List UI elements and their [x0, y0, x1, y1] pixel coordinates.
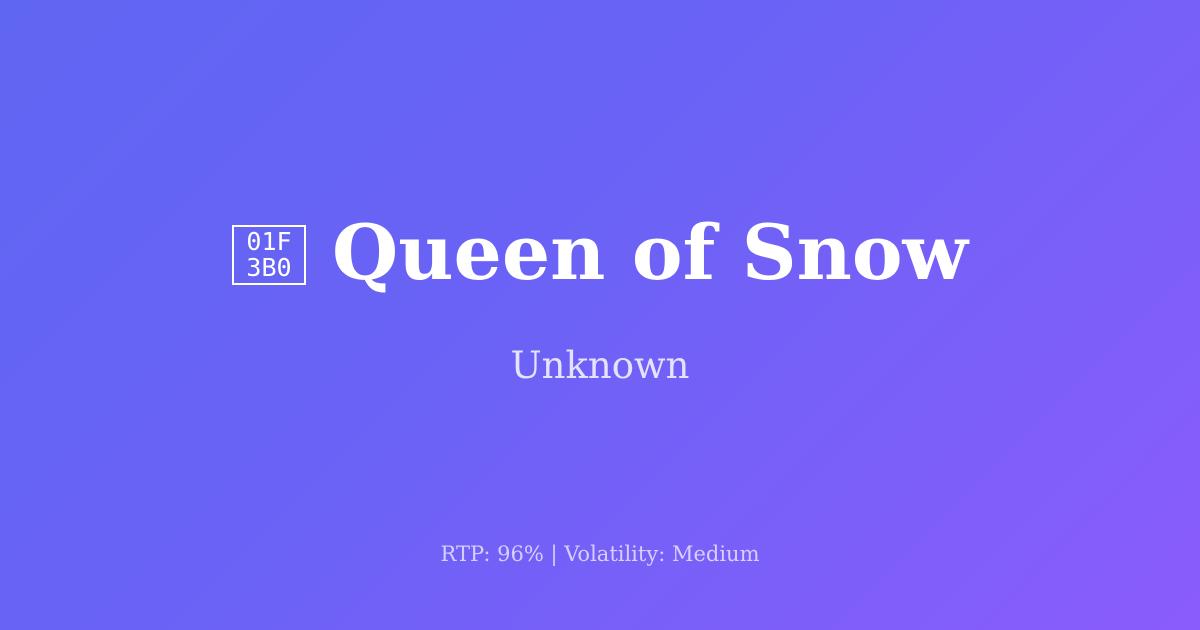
title-row: 01F 3B0 Queen of Snow [232, 215, 968, 291]
hero-block: 01F 3B0 Queen of Snow Unknown [232, 215, 968, 384]
game-meta-line: RTP: 96% | Volatility: Medium [0, 544, 1200, 565]
game-provider: Unknown [510, 347, 689, 384]
slot-machine-icon: 01F 3B0 [232, 225, 306, 285]
game-og-card: 01F 3B0 Queen of Snow Unknown RTP: 96% |… [0, 0, 1200, 630]
slot-machine-icon-codepoint-low: 3B0 [246, 255, 291, 281]
game-title: Queen of Snow [332, 215, 968, 291]
slot-machine-icon-codepoint-high: 01F [246, 229, 291, 255]
